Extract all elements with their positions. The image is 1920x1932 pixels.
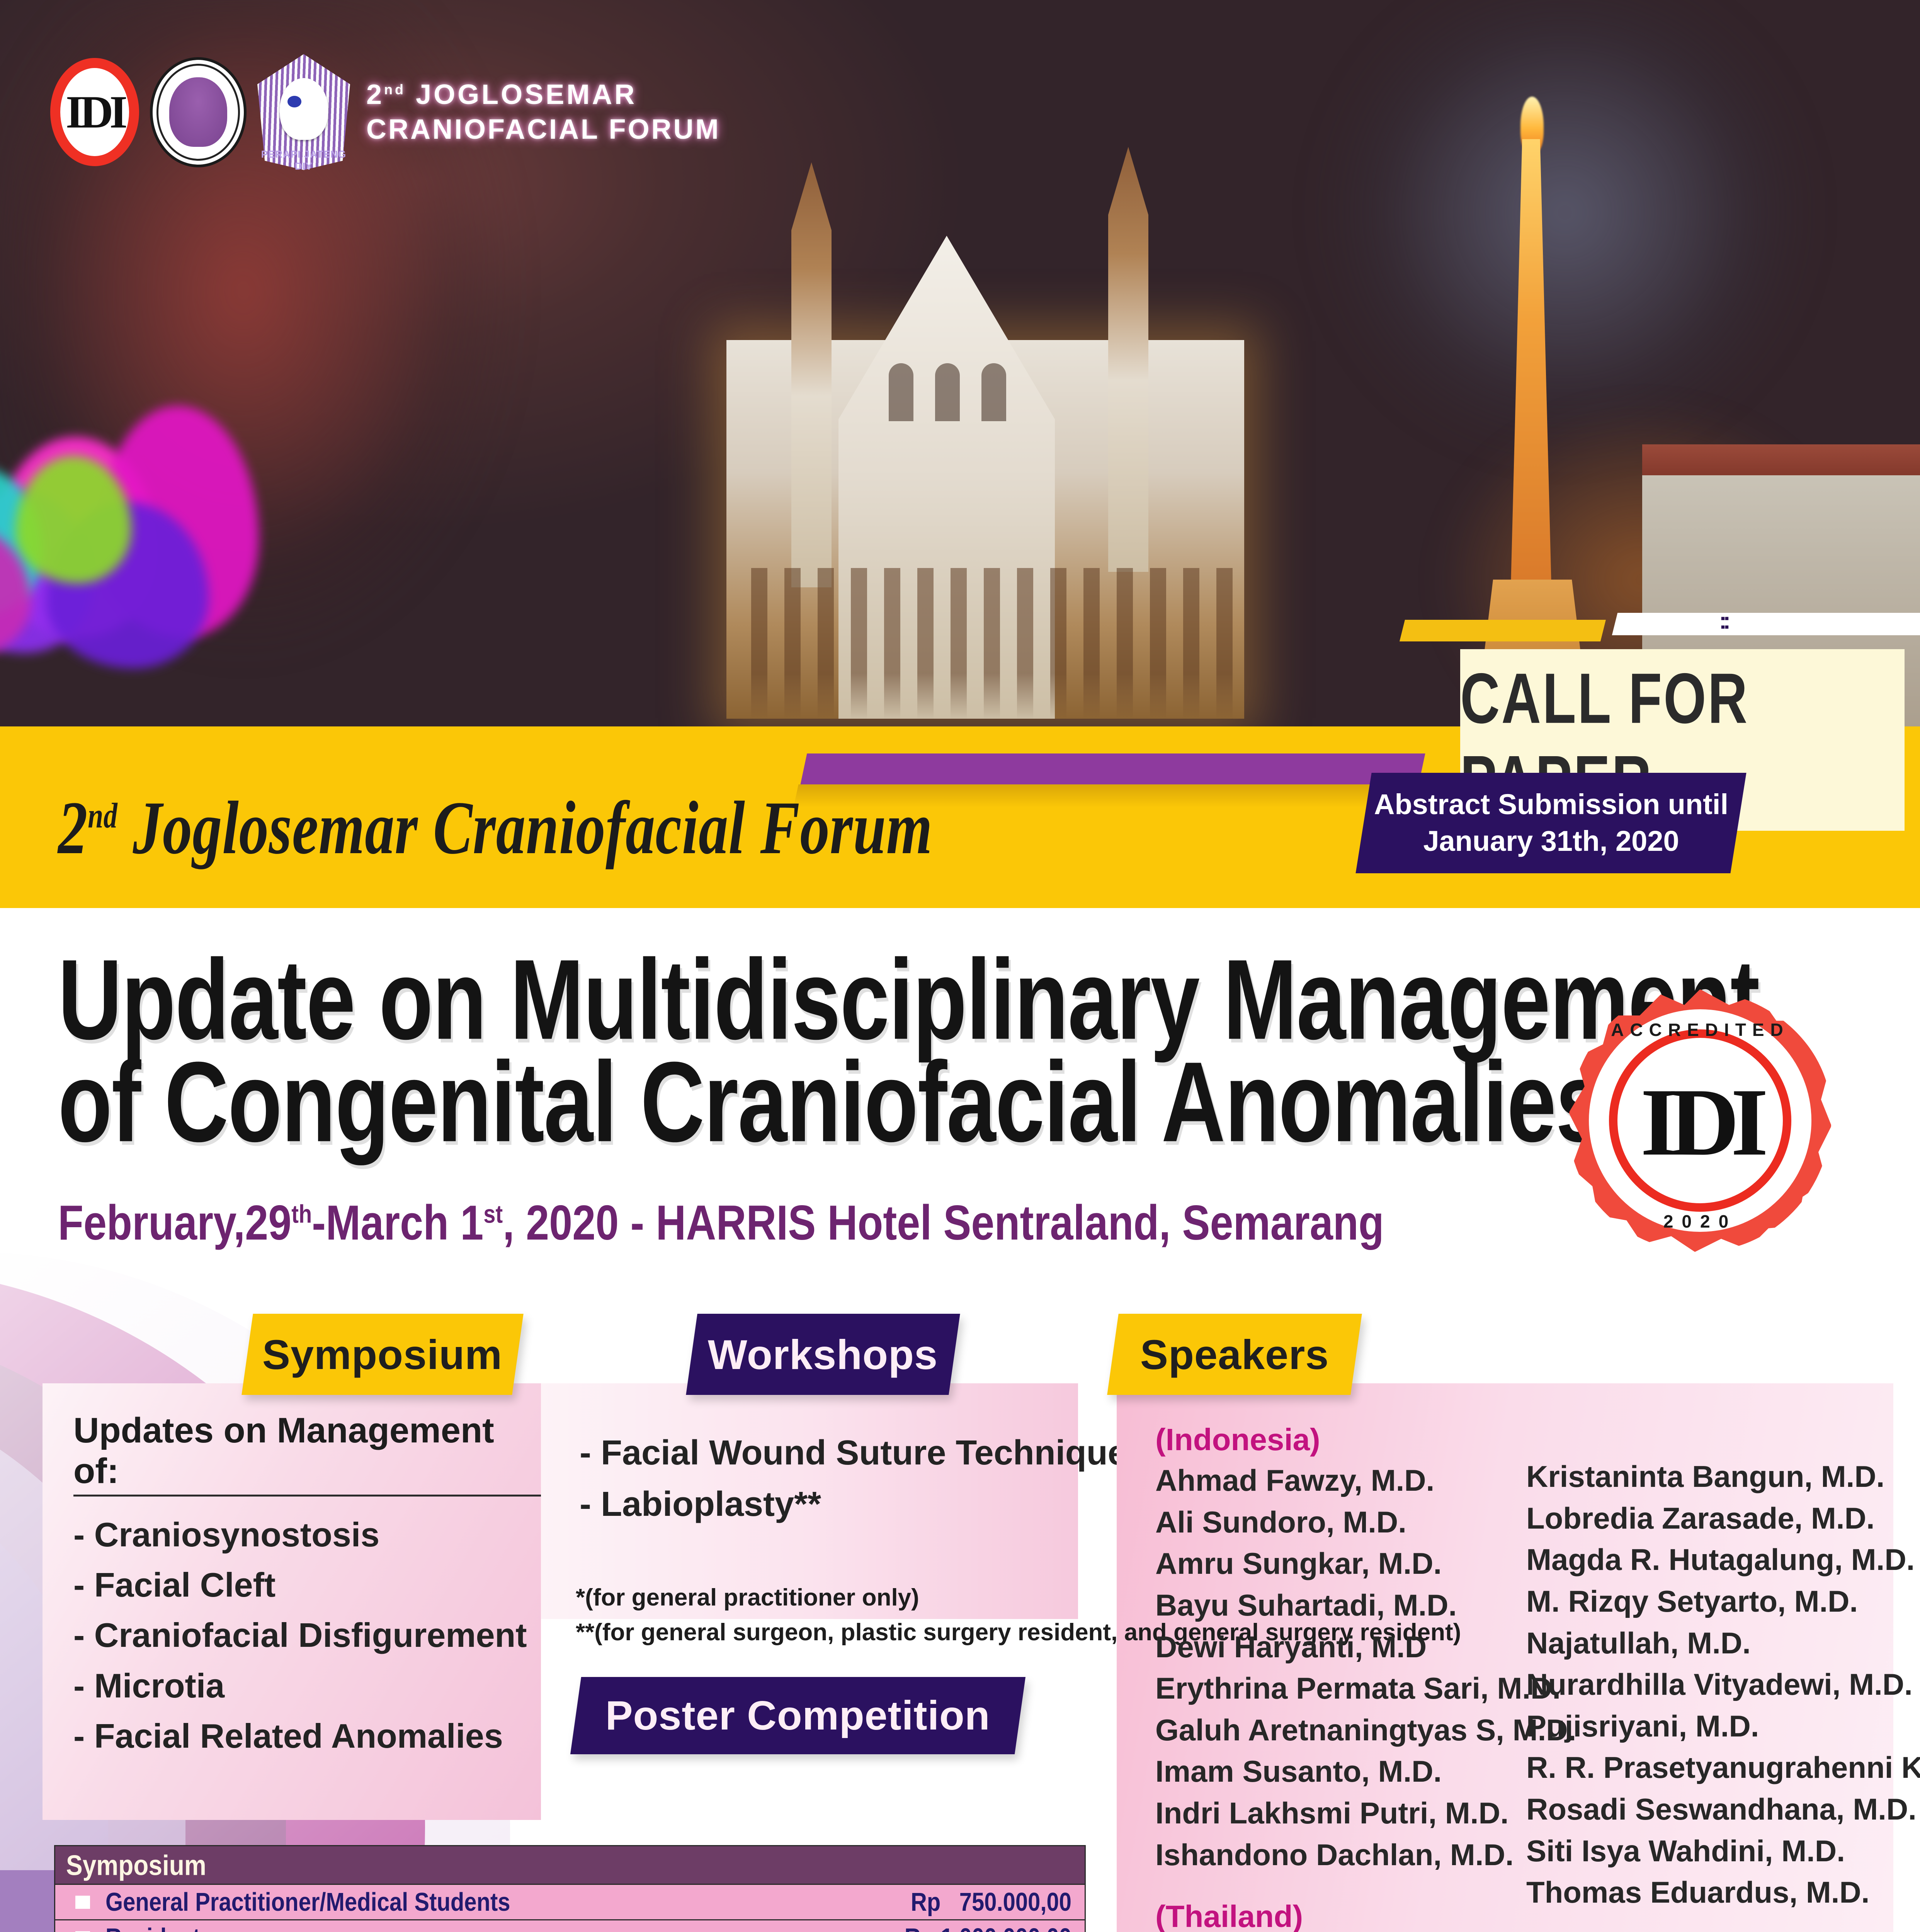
lawang-sewu-building: [657, 70, 1314, 726]
page-title: Update on Multidisciplinary Management o…: [58, 939, 1565, 1144]
speakers-country-thailand: (Thailand): [1155, 1899, 1503, 1932]
speakers-country-indonesia: (Indonesia): [1155, 1422, 1503, 1458]
list-item: Ali Sundoro, M.D.: [1155, 1502, 1503, 1543]
idi-logo-icon: IDI: [50, 58, 139, 166]
hero-forum-title: 2nd JOGLOSEMAR CRANIOFACIAL FORUM: [366, 77, 721, 147]
table-row: Resident Rp 1.000.000,00: [55, 1920, 1085, 1932]
seal-idi-glyph: IDI: [1634, 1061, 1766, 1184]
list-item: R. R. Prasetyanugrahenni K, M.D.: [1526, 1747, 1874, 1789]
list-item: Siti Isya Wahdini, M.D.: [1526, 1830, 1874, 1872]
conference-poster: IDI PERAPI JATENG DIY 2nd JOGLOSEMAR CRA…: [0, 0, 1920, 1932]
pricing-row-price: Rp 1.000.000,00: [905, 1923, 1085, 1932]
forum-title-text: 2nd Joglosemar Craniofacial Forum: [58, 784, 932, 871]
symposium-topic-list: - Craniosynostosis - Facial Cleft - Cran…: [73, 1510, 541, 1761]
seal-bottom-word: 2020: [1569, 1211, 1832, 1232]
tab-poster-competition[interactable]: Poster Competition: [570, 1677, 1025, 1754]
list-item: - Facial Cleft: [73, 1560, 541, 1610]
pricing-section-header: Symposium: [55, 1846, 1085, 1885]
workshops-list: - Facial Wound Suture Techniques* - Labi…: [580, 1427, 1078, 1530]
idi-logo-glyph: IDI: [66, 89, 124, 135]
tab-speakers[interactable]: Speakers: [1107, 1314, 1362, 1395]
page-title-line2: of Congenital Craniofacial Anomalies: [58, 1041, 1444, 1162]
organizer-logos: IDI PERAPI JATENG DIY 2nd JOGLOSEMAR CRA…: [50, 54, 721, 170]
speakers-column-right: Kristaninta Bangun, M.D. Lobredia Zarasa…: [1526, 1422, 1874, 1932]
list-item: - Craniofacial Disfigurement: [73, 1610, 541, 1660]
pricing-section-title: Symposium: [55, 1849, 206, 1881]
list-item: - Microtia: [73, 1661, 541, 1711]
tab-workshops[interactable]: Workshops: [686, 1314, 960, 1395]
fountain-lights: [0, 340, 626, 657]
hero-forum-title-line2: CRANIOFACIAL FORUM: [366, 112, 721, 147]
date-and-venue: February,29th-March 1st, 2020 - HARRIS H…: [58, 1194, 1384, 1251]
speakers-indonesia-list-1: Ahmad Fawzy, M.D. Ali Sundoro, M.D. Amru…: [1155, 1460, 1503, 1876]
tab-workshops-label: Workshops: [708, 1330, 938, 1379]
abstract-deadline-line1: Abstract Submission until: [1374, 786, 1728, 823]
list-item: M. Rizqy Setyarto, M.D.: [1526, 1581, 1874, 1622]
list-item: Nurardhilla Vityadewi, M.D.: [1526, 1664, 1874, 1706]
list-item: Rosadi Seswandhana, M.D.: [1526, 1789, 1874, 1830]
speakers-column-left: (Indonesia) Ahmad Fawzy, M.D. Ali Sundor…: [1155, 1422, 1503, 1932]
list-item: Lobredia Zarasade, M.D.: [1526, 1498, 1874, 1539]
perapi-logo-icon: [150, 57, 247, 167]
tab-symposium[interactable]: Symposium: [241, 1314, 524, 1395]
tab-speakers-label: Speakers: [1140, 1330, 1329, 1379]
list-item: Indri Lakhsmi Putri, M.D.: [1155, 1793, 1503, 1834]
list-item: Dewi Haryanti, M.D: [1155, 1626, 1503, 1668]
list-item: Ahmad Fawzy, M.D.: [1155, 1460, 1503, 1502]
list-item: Bayu Suhartadi, M.D.: [1155, 1585, 1503, 1626]
speakers-indonesia-list-2: Kristaninta Bangun, M.D. Lobredia Zarasa…: [1526, 1456, 1874, 1913]
list-item: - Facial Wound Suture Techniques*: [580, 1427, 1078, 1479]
abstract-submission-badge: Abstract Submission until January 31th, …: [1355, 773, 1746, 873]
pricing-row-price: Rp 750.000,00: [911, 1887, 1085, 1917]
pricing-row-name: Resident: [90, 1923, 905, 1932]
checkbox-icon: [75, 1896, 90, 1909]
accredited-seal-icon: ACCREDITED IDI 2020: [1569, 989, 1832, 1252]
list-item: Magda R. Hutagalung, M.D.: [1526, 1539, 1874, 1581]
perapi-jateng-logo-icon: PERAPI JATENG DIY: [257, 54, 350, 170]
forum-title-ordinal: nd: [88, 796, 117, 835]
pricing-table: Symposium General Practitioner/Medical S…: [54, 1845, 1086, 1932]
tab-symposium-label: Symposium: [262, 1330, 502, 1379]
hero-forum-title-line1: 2nd JOGLOSEMAR: [366, 77, 721, 112]
list-item: Kristaninta Bangun, M.D.: [1526, 1456, 1874, 1498]
pricing-row-name: General Practitioner/Medical Students: [90, 1887, 911, 1917]
list-item: Erythrina Permata Sari, M.D.: [1155, 1668, 1503, 1709]
list-item: Amru Sungkar, M.D.: [1155, 1543, 1503, 1585]
list-item: - Labioplasty**: [580, 1479, 1078, 1530]
list-item: Najatullah, M.D.: [1526, 1622, 1874, 1664]
symposium-heading: Updates on Management of:: [73, 1410, 541, 1497]
seal-top-word: ACCREDITED: [1569, 1019, 1832, 1040]
table-row: General Practitioner/Medical Students Rp…: [55, 1885, 1085, 1920]
symposium-panel: Updates on Management of: - Craniosynost…: [43, 1383, 541, 1820]
list-item: - Facial Related Anomalies: [73, 1711, 541, 1761]
speakers-lists: (Indonesia) Ahmad Fawzy, M.D. Ali Sundor…: [1155, 1422, 1889, 1932]
list-item: - Craniosynostosis: [73, 1510, 541, 1560]
tab-poster-label: Poster Competition: [605, 1692, 990, 1739]
list-item: Galuh Aretnaningtyas S, M.D.: [1155, 1709, 1503, 1751]
list-item: Pujisriyani, M.D.: [1526, 1706, 1874, 1747]
list-item: Thomas Eduardus, M.D.: [1526, 1872, 1874, 1913]
list-item: Imam Susanto, M.D.: [1155, 1751, 1503, 1793]
list-item: Ishandono Dachlan, M.D.: [1155, 1834, 1503, 1876]
abstract-deadline-line2: January 31th, 2020: [1374, 823, 1728, 860]
perapi-jateng-caption: PERAPI JATENG DIY: [257, 148, 350, 172]
